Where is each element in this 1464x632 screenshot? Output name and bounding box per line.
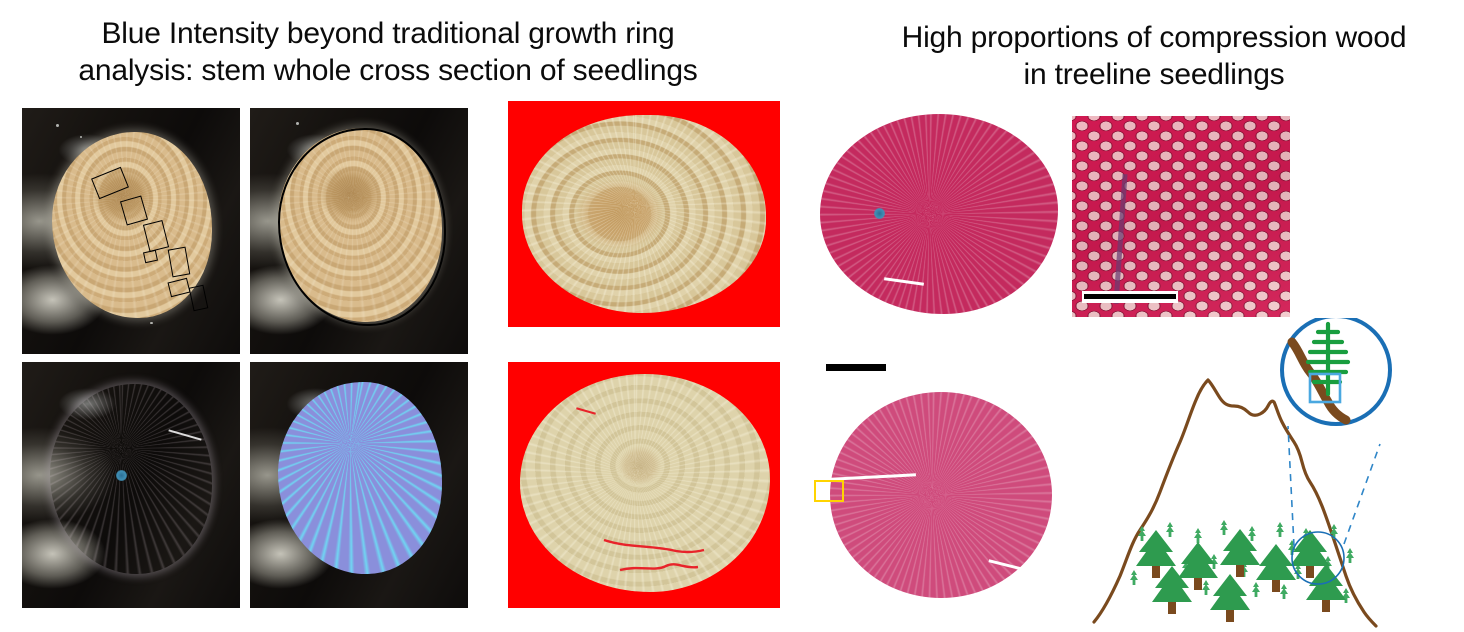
- panel-stem-cross-section-with-roi-boxes: [22, 108, 240, 354]
- tree-crown: [1178, 542, 1218, 578]
- sapling: [1342, 588, 1350, 603]
- sapling: [1202, 580, 1210, 595]
- dust-speck: [56, 124, 59, 127]
- panel-cross-section-with-red-ring-traces: [508, 362, 780, 608]
- sapling: [1252, 582, 1260, 597]
- tree-trunk: [1194, 576, 1202, 590]
- tree: [1220, 529, 1260, 577]
- micrograph-scale-bar: [1084, 294, 1176, 299]
- stain-wash-overlay: [1072, 116, 1290, 317]
- dust-speck: [296, 122, 299, 125]
- red-ring-trace[interactable]: [620, 564, 698, 570]
- treeline-schematic-svg: [1088, 318, 1464, 632]
- title-left-line-2: analysis: stem whole cross section of se…: [18, 53, 758, 90]
- tree: [1256, 544, 1296, 592]
- panel-compression-wood-section-eccentric: [812, 104, 1064, 326]
- sapling: [1194, 528, 1202, 543]
- sapling: [1346, 548, 1354, 563]
- dust-speck: [80, 136, 82, 138]
- tree: [1210, 574, 1250, 622]
- tree-trunk: [1236, 563, 1244, 577]
- dust-speck: [150, 322, 153, 324]
- callout-connector-line: [1344, 444, 1380, 544]
- stained-micro-section: [820, 114, 1058, 314]
- red-ring-trace[interactable]: [604, 540, 704, 552]
- panel-compression-wood-section-with-roi: [812, 380, 1064, 608]
- title-right-line-2: in treeline seedlings: [858, 57, 1450, 94]
- sapling: [1130, 570, 1138, 585]
- tree-crown: [1290, 530, 1330, 566]
- sapling: [1220, 520, 1228, 535]
- tree-trunk: [1306, 564, 1314, 578]
- title-right-line-1: High proportions of compression wood: [858, 20, 1450, 57]
- panel-stem-cross-section-outlined: [250, 108, 468, 354]
- wood-ray-texture: [820, 114, 1058, 314]
- sapling: [1276, 522, 1284, 537]
- stem-cross-section-quad: [22, 108, 468, 608]
- panel-treeline-seedling-schematic: [1088, 318, 1464, 632]
- tree-trunk: [1226, 608, 1234, 622]
- tree-trunk: [1272, 578, 1280, 592]
- sapling: [1248, 526, 1256, 541]
- page-title-right: High proportions of compression wood in …: [858, 20, 1450, 93]
- panel-cross-section-on-red-background: [508, 101, 780, 327]
- tree-trunk: [1322, 598, 1330, 612]
- red-ring-trace-group[interactable]: [508, 362, 780, 608]
- tree-trunk: [1152, 564, 1160, 578]
- sapling: [1166, 522, 1174, 537]
- callout-connector-line: [1288, 426, 1294, 546]
- tree-group: [1136, 529, 1346, 622]
- title-left-line-1: Blue Intensity beyond traditional growth…: [18, 16, 758, 53]
- pith-marker: [874, 208, 885, 219]
- panel-stem-cross-section-stained: [22, 362, 240, 608]
- panel-stem-cross-section-thresholded: [250, 362, 468, 608]
- panel-tracheid-cell-micrograph: [1072, 116, 1290, 317]
- sapling: [1280, 584, 1288, 599]
- wood-ray-texture: [522, 115, 766, 313]
- page-title-left: Blue Intensity beyond traditional growth…: [18, 16, 758, 89]
- figure-canvas: Blue Intensity beyond traditional growth…: [0, 0, 1464, 632]
- pith-marker: [116, 470, 127, 481]
- wood-cross-section-disc: [522, 115, 766, 313]
- tree-crown: [1210, 574, 1250, 610]
- tree-trunk: [1168, 600, 1176, 614]
- yellow-region-of-interest-box[interactable]: [814, 480, 844, 502]
- section-scale-bar: [826, 364, 886, 371]
